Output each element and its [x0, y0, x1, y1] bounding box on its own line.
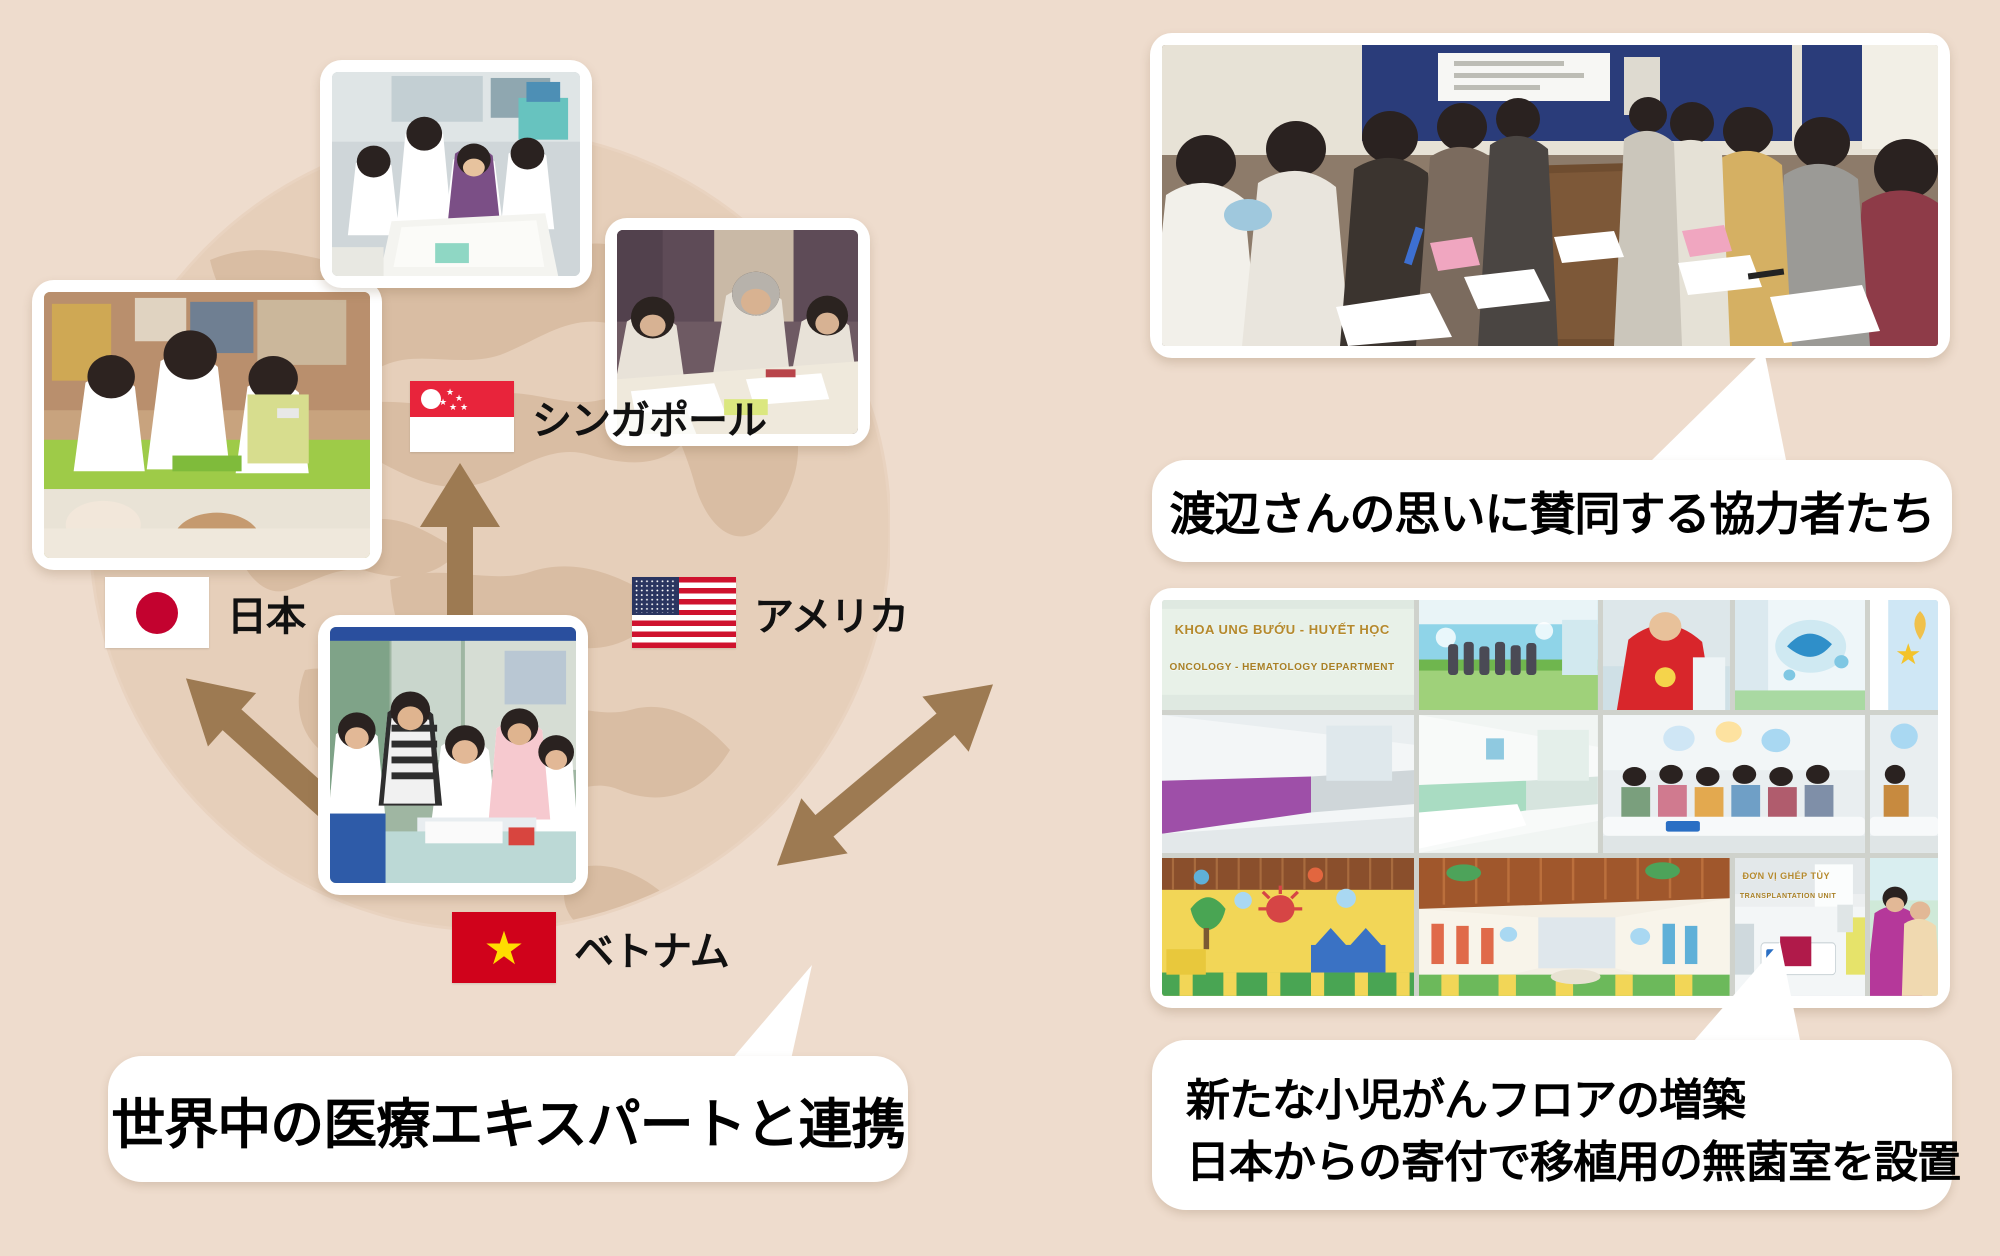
callout-right-bottom-caption: 新たな小児がんフロアの増築 日本からの寄付で移植用の無菌室を設置 — [1152, 1040, 1952, 1210]
photo-vietnam-image — [330, 627, 576, 883]
collage-cell-wall-art-fish — [1735, 600, 1865, 710]
transplant-sign-line1: ĐƠN VỊ GHÉP TỦY — [1742, 871, 1830, 881]
country-label-singapore: ★ ★ ★ ★ ★ シンガポール — [410, 381, 766, 452]
collage-cell-playroom-yellow — [1162, 858, 1414, 996]
dept-sign-line1: KHOA UNG BƯỚU - HUYẾT HỌC — [1175, 622, 1390, 637]
usa-flag — [632, 577, 736, 648]
transplant-sign-line2: TRANSPLANTATION UNIT — [1740, 893, 1836, 900]
collage-cell-ward-balloons-2 — [1870, 715, 1938, 853]
photo-singapore[interactable] — [320, 60, 592, 288]
svg-text:★: ★ — [1895, 639, 1922, 670]
country-label-america: アメリカ — [632, 577, 908, 648]
singapore-flag: ★ ★ ★ ★ ★ — [410, 381, 514, 452]
callout-tail-right-bottom — [1680, 940, 1810, 1050]
infographic-canvas: 日本 ★ ★ ★ ★ ★ シンガポール アメリカ ★ ベトナム 世界中の医療エキ… — [0, 0, 2000, 1256]
photo-meeting[interactable] — [1150, 33, 1950, 358]
photo-hospital-collage[interactable]: KHOA UNG BƯỚU - HUYẾT HỌC ONCOLOGY - HEM… — [1150, 588, 1950, 1008]
collage-cell-mother-and-child — [1870, 858, 1938, 996]
country-label-america-text: アメリカ — [754, 584, 908, 642]
callout-right-top-caption-text: 渡辺さんの思いに賛同する協力者たち — [1170, 478, 1935, 544]
callout-right-top-caption: 渡辺さんの思いに賛同する協力者たち — [1152, 460, 1952, 562]
collage-cell-corridor-purple — [1162, 715, 1414, 853]
callout-right-bottom-line2: 日本からの寄付で移植用の無菌室を設置 — [1186, 1132, 1952, 1194]
collage-cell-dept-sign: KHOA UNG BƯỚU - HUYẾT HỌC ONCOLOGY - HEM… — [1162, 600, 1414, 710]
photo-vietnam[interactable] — [318, 615, 588, 895]
photo-singapore-image — [332, 72, 580, 276]
dept-sign-line2: ONCOLOGY - HEMATOLOGY DEPARTMENT — [1170, 662, 1395, 673]
photo-japan-image — [44, 292, 370, 558]
collage-cell-corridor-children — [1419, 600, 1598, 710]
country-label-japan-text: 日本 — [227, 584, 305, 642]
callout-left-caption: 世界中の医療エキスパートと連携 — [108, 1056, 908, 1182]
callout-tail-right-top — [1648, 350, 1798, 460]
photo-japan[interactable] — [32, 280, 382, 570]
arrow-vietnam-america — [730, 645, 1040, 905]
vietnam-flag: ★ — [452, 912, 556, 983]
photo-meeting-image — [1162, 45, 1938, 346]
callout-right-bottom-line1: 新たな小児がんフロアの増築 — [1186, 1070, 1952, 1132]
country-label-singapore-text: シンガポール — [532, 388, 766, 446]
callout-left-caption-text: 世界中の医療エキスパートと連携 — [111, 1080, 904, 1159]
collage-cell-corridor-green — [1419, 715, 1598, 853]
collage-cell-wall-art-star: ★ — [1870, 600, 1938, 710]
hospital-collage-grid: KHOA UNG BƯỚU - HUYẾT HỌC ONCOLOGY - HEM… — [1162, 600, 1938, 996]
country-label-japan: 日本 — [105, 577, 305, 648]
collage-cell-child-red-cape — [1603, 600, 1730, 710]
collage-cell-ward-balloons-1 — [1603, 715, 1865, 853]
japan-flag — [105, 577, 209, 648]
